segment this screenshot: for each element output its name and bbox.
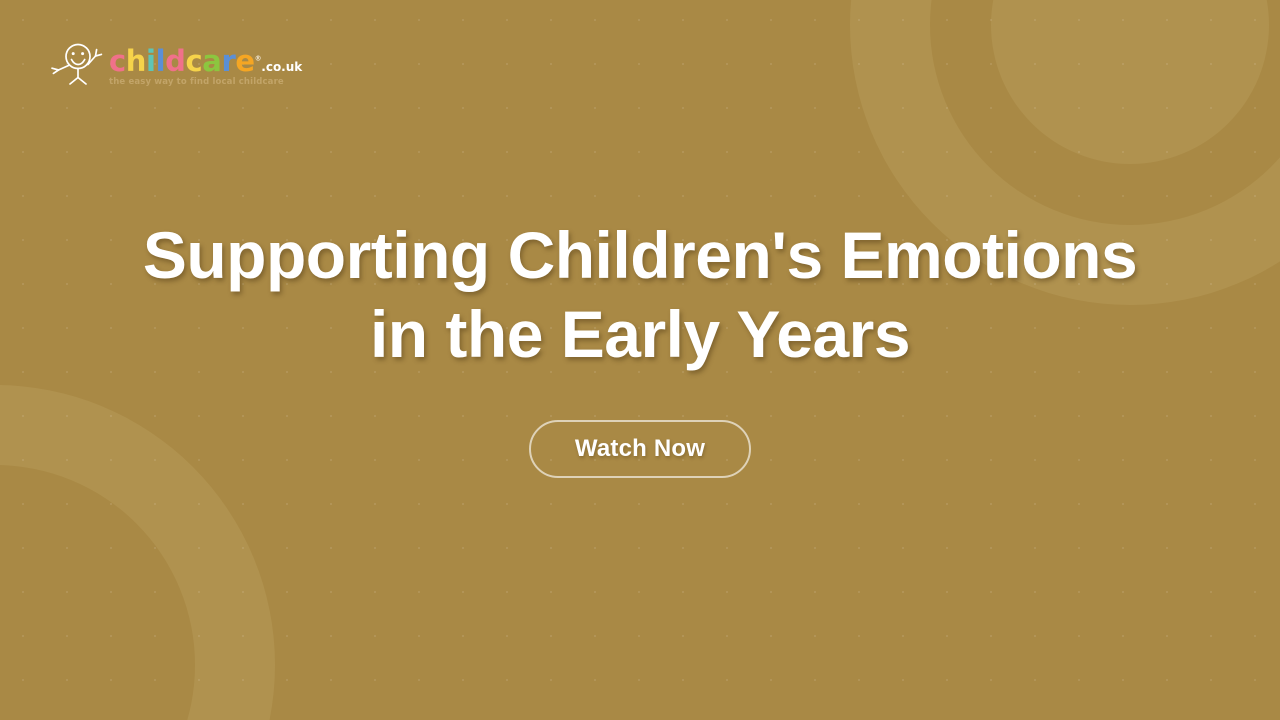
watch-now-button[interactable]: Watch Now — [529, 420, 751, 478]
hero-content: Supporting Children's Emotions in the Ea… — [0, 0, 1280, 720]
brand-letter-a: a — [202, 44, 221, 78]
brand-letter-c: c — [109, 44, 126, 78]
brand-logo[interactable]: childcare®.co.uk the easy way to find lo… — [50, 42, 302, 87]
brand-letter-c: c — [186, 44, 203, 78]
brand-letter-i: i — [146, 44, 156, 78]
brand-tagline: the easy way to find local childcare — [109, 77, 302, 87]
brand-tld: .co.uk — [261, 60, 302, 74]
brand-letter-l: l — [156, 44, 166, 78]
brand-letter-d: d — [165, 44, 185, 78]
brand-wordmark: childcare®.co.uk — [109, 47, 302, 76]
brand-letter-r: r — [221, 44, 235, 78]
page-title: Supporting Children's Emotions in the Ea… — [140, 216, 1140, 373]
brand-letter-h: h — [126, 44, 146, 78]
video-hero-slide: childcare®.co.uk the easy way to find lo… — [0, 0, 1280, 720]
smiling-stick-figure-icon — [50, 41, 106, 85]
brand-letter-e: e — [235, 44, 254, 78]
brand-letters: childcare — [109, 44, 255, 78]
